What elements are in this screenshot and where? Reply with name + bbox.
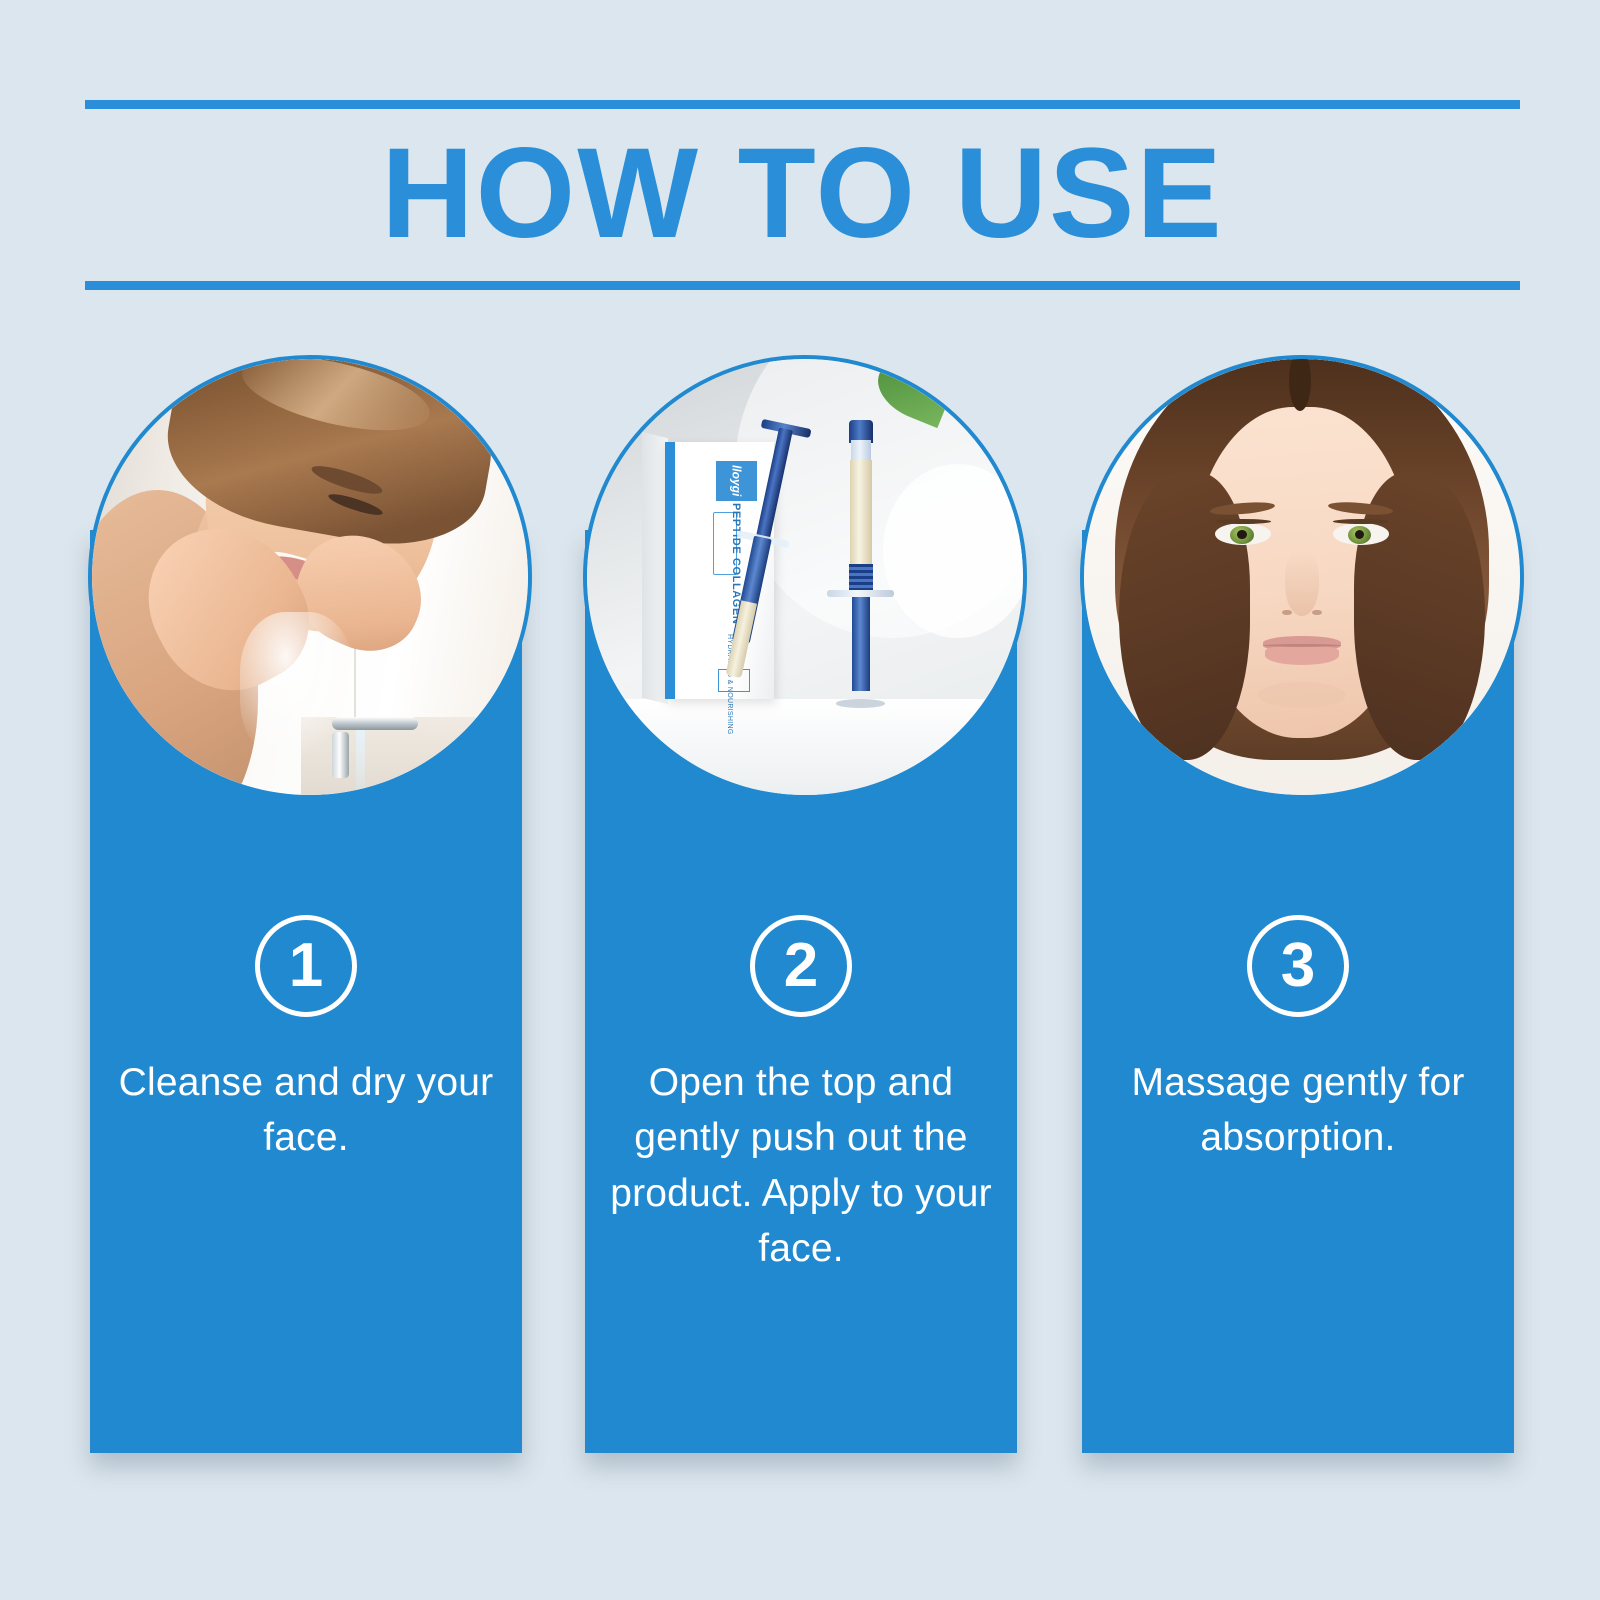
step-number-badge-3: 3 — [1247, 915, 1349, 1017]
step-caption-1: Cleanse and dry your face. — [112, 1055, 500, 1166]
step-card-2[interactable]: lloygi PEPTIDE COLLAGEN HYDRATING & NOUR… — [585, 530, 1017, 1453]
product-illustration: lloygi PEPTIDE COLLAGEN HYDRATING & NOUR… — [587, 359, 1023, 795]
step-number-badge-1: 1 — [255, 915, 357, 1017]
page-title: HOW TO USE — [85, 108, 1520, 280]
washing-face-illustration — [92, 359, 528, 795]
product-brand: lloygi — [717, 460, 756, 501]
title-block: HOW TO USE — [85, 100, 1520, 290]
syringe-upright — [849, 420, 873, 708]
step-2-photo: lloygi PEPTIDE COLLAGEN HYDRATING & NOUR… — [583, 355, 1027, 799]
step-card-1[interactable]: 1 Cleanse and dry your face. — [90, 530, 522, 1453]
step-caption-2: Open the top and gently push out the pro… — [607, 1055, 995, 1277]
steps-container: 1 Cleanse and dry your face. lloygi PEPT… — [90, 355, 1515, 1455]
step-3-photo — [1080, 355, 1524, 799]
portrait-illustration — [1084, 359, 1520, 795]
step-card-3[interactable]: 3 Massage gently for absorption. — [1082, 530, 1514, 1453]
step-number-badge-2: 2 — [750, 915, 852, 1017]
step-1-photo — [88, 355, 532, 799]
title-bottom-rule — [85, 281, 1520, 290]
step-caption-3: Massage gently for absorption. — [1104, 1055, 1492, 1166]
